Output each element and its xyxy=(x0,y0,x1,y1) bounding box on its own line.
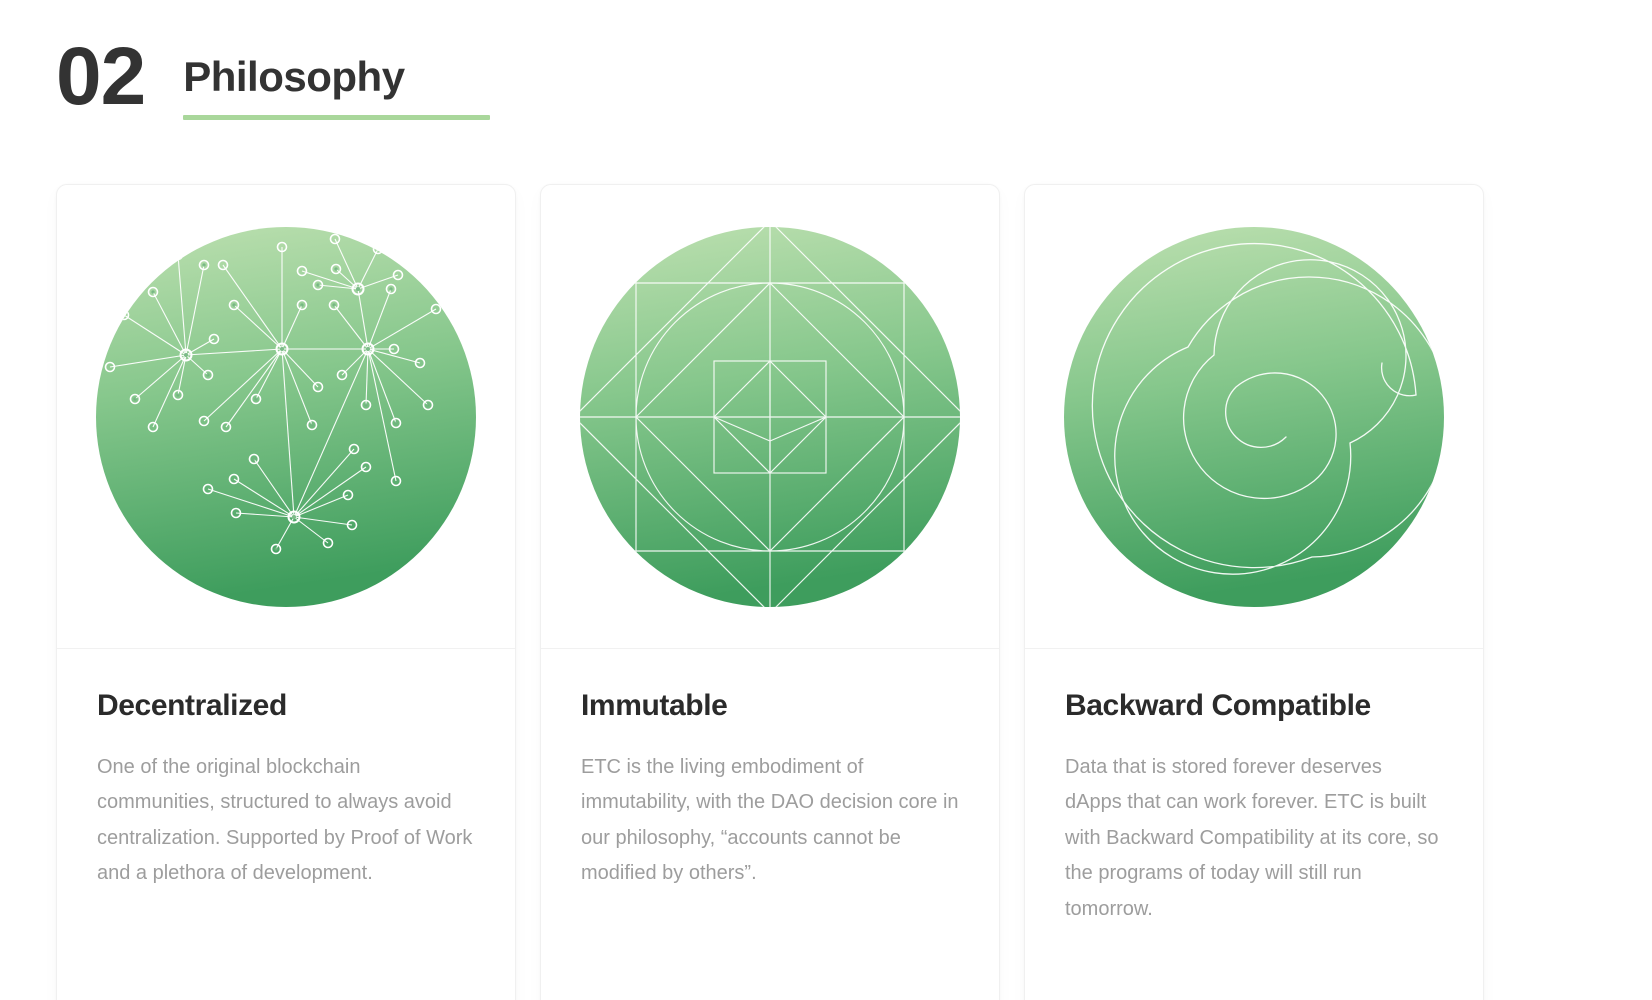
card-body-decentralized: Decentralized One of the original blockc… xyxy=(57,649,515,940)
card-illustration-backward-compatible xyxy=(1025,185,1483,649)
section-number: 02 xyxy=(56,38,145,116)
philosophy-card-grid: Decentralized One of the original blockc… xyxy=(56,184,1484,1000)
page-title: Philosophy xyxy=(183,54,490,100)
card-description: ETC is the living embodiment of immutabi… xyxy=(581,750,959,892)
card-decentralized[interactable]: Decentralized One of the original blockc… xyxy=(56,184,516,1000)
section-title-group: Philosophy xyxy=(183,38,490,120)
card-title: Decentralized xyxy=(97,689,475,724)
card-illustration-decentralized xyxy=(57,185,515,649)
card-description: One of the original blockchain communiti… xyxy=(97,750,475,892)
section-header: 02 Philosophy xyxy=(56,38,490,120)
card-body-backward-compatible: Backward Compatible Data that is stored … xyxy=(1025,649,1483,975)
title-underline-rule xyxy=(183,115,490,120)
card-backward-compatible[interactable]: Backward Compatible Data that is stored … xyxy=(1024,184,1484,1000)
network-nodes-icon xyxy=(96,227,476,607)
card-title: Backward Compatible xyxy=(1065,689,1443,724)
philosophy-section: 02 Philosophy xyxy=(0,0,1652,1000)
spiral-icon xyxy=(1064,227,1444,607)
sacred-geometry-icon xyxy=(580,227,960,607)
card-body-immutable: Immutable ETC is the living embodiment o… xyxy=(541,649,999,940)
card-title: Immutable xyxy=(581,689,959,724)
card-illustration-immutable xyxy=(541,185,999,649)
card-description: Data that is stored forever deserves dAp… xyxy=(1065,750,1443,928)
card-immutable[interactable]: Immutable ETC is the living embodiment o… xyxy=(540,184,1000,1000)
